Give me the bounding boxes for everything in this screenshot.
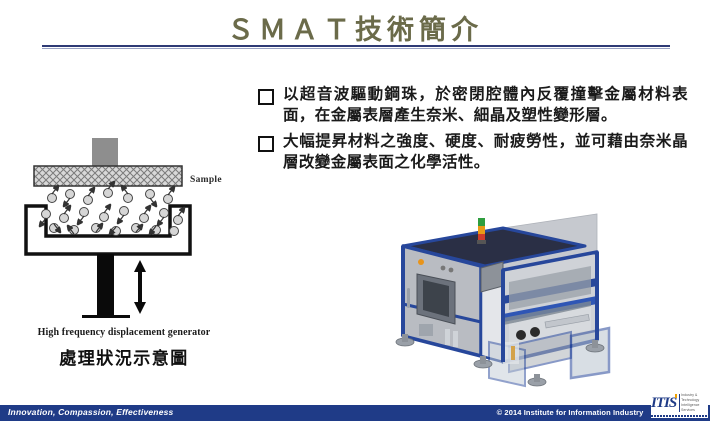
itis-logo-mark: ITIS	[651, 396, 676, 411]
logo-dashed-rule	[651, 415, 708, 417]
page-title: ＳＭＡＴ技術簡介	[0, 8, 710, 47]
square-bullet-icon	[258, 89, 274, 105]
generator-label: High frequency displacement generator	[14, 327, 234, 338]
button-b	[449, 268, 454, 273]
diagram-caption: 處理狀況示意圖	[14, 344, 234, 369]
sample-plate	[34, 166, 182, 186]
button-a	[441, 266, 446, 271]
rod-base	[82, 315, 130, 318]
bullet-text: 以超音波驅動鋼珠，於密閉腔體內反覆撞擊金屬材料表面，在金屬表層產生奈米、細晶及塑…	[283, 84, 688, 126]
knob-a	[516, 330, 526, 340]
list-item: 以超音波驅動鋼珠，於密閉腔體內反覆撞擊金屬材料表面，在金屬表層產生奈米、細晶及塑…	[258, 84, 688, 126]
slide-canvas: ＳＭＡＴ技術簡介 以超音波驅動鋼珠，於密閉腔體內反覆撞擊金屬材料表面，在金屬表層…	[0, 0, 710, 425]
square-bullet-icon	[258, 136, 274, 152]
logo-accent-dot	[675, 394, 677, 398]
ball-cluster	[42, 189, 183, 236]
machine-render-image	[385, 196, 705, 391]
sample-label: Sample	[190, 175, 222, 185]
smat-schematic-diagram	[4, 138, 254, 338]
lower-part-a	[419, 324, 433, 336]
lower-part-c	[453, 331, 458, 347]
indicator-lamp	[418, 259, 424, 265]
footer-tagline: Innovation, Compassion, Effectiveness	[8, 407, 173, 417]
bullet-list: 以超音波驅動鋼珠，於密閉腔體內反覆撞擊金屬材料表面，在金屬表層產生奈米、細晶及塑…	[258, 84, 688, 178]
schematic-svg	[4, 138, 254, 338]
knob-b	[530, 327, 540, 337]
itis-logo: ITIS Industry & Technology Intelligence …	[651, 388, 708, 418]
vibration-arrow	[134, 260, 146, 314]
motion-arrows	[40, 182, 184, 234]
list-item: 大幅提昇材料之強度、硬度、耐疲勞性，並可藉由奈米晶層改變金屬表面之化學活性。	[258, 131, 688, 173]
signal-tower-light	[477, 218, 486, 244]
itis-logo-text: Industry & Technology Intelligence Servi…	[681, 393, 708, 413]
glass-door-right	[571, 328, 609, 378]
title-divider	[42, 45, 670, 47]
generator-rod	[97, 254, 114, 316]
lower-part-b	[445, 329, 450, 345]
title-divider-secondary	[42, 48, 670, 49]
upper-shaft	[92, 138, 118, 166]
machine-svg	[385, 196, 705, 391]
bullet-text: 大幅提昇材料之強度、硬度、耐疲勞性，並可藉由奈米晶層改變金屬表面之化學活性。	[283, 131, 688, 173]
fixture-rod	[511, 346, 515, 360]
footer-copyright: © 2014 Institute for Information Industr…	[470, 408, 670, 417]
door-handle	[407, 288, 410, 308]
